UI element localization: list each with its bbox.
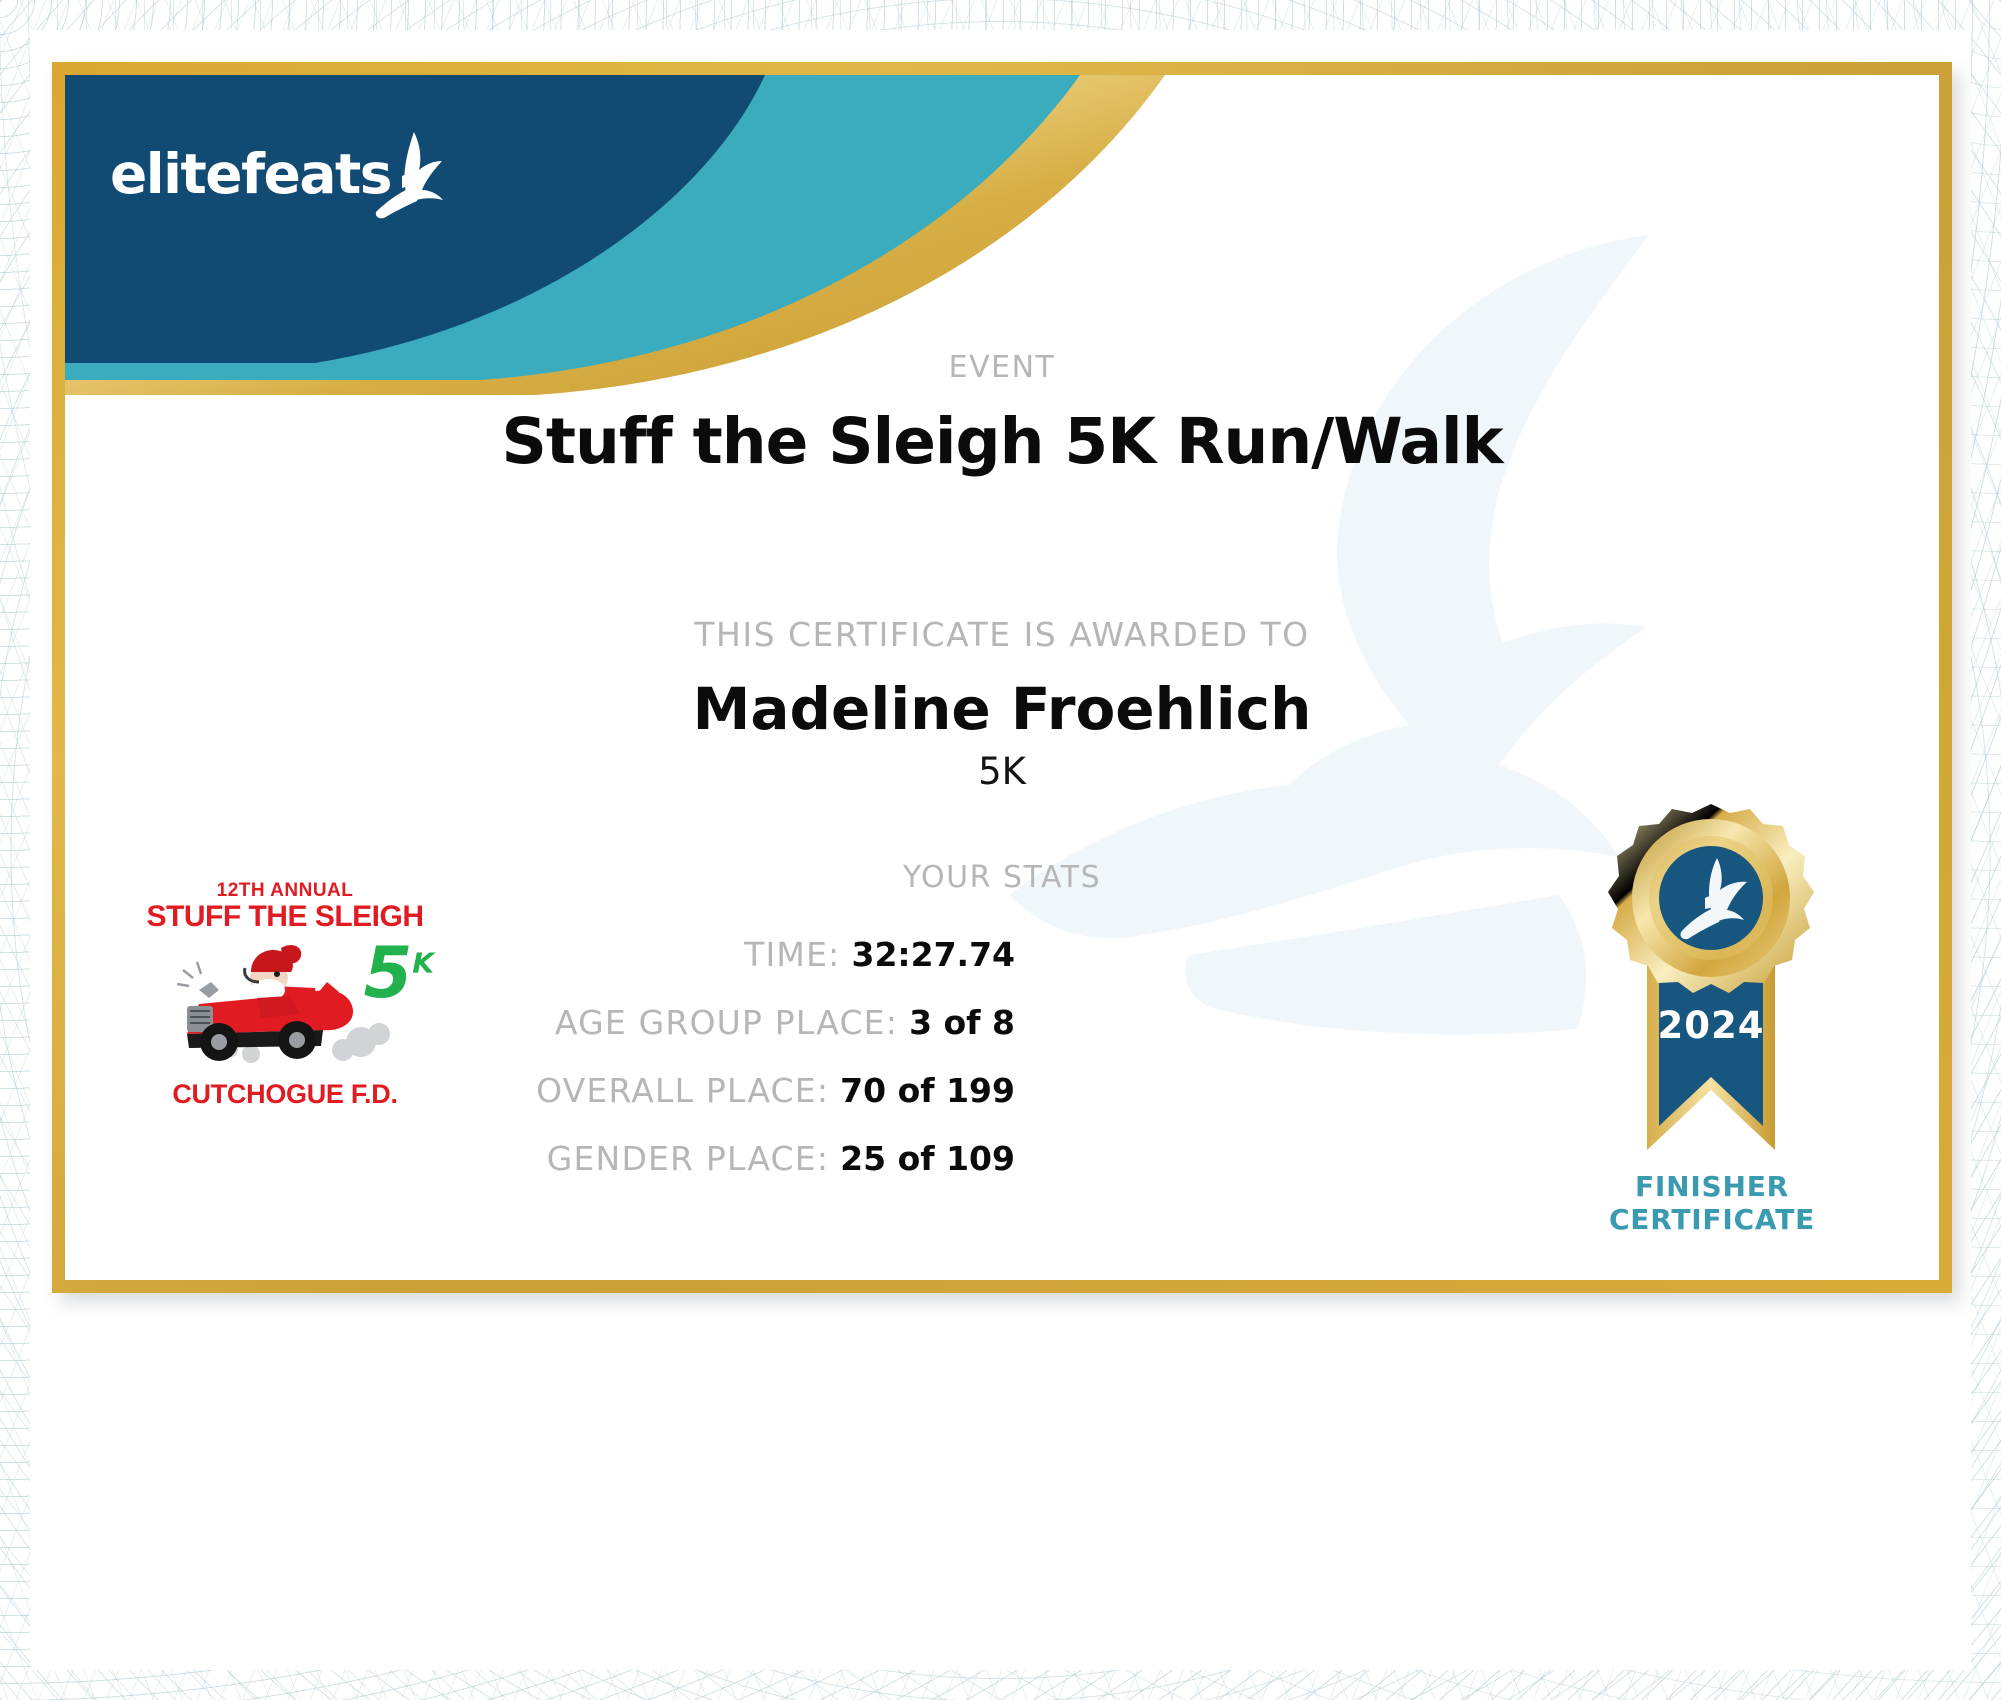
medal-year: 2024 (1658, 1004, 1765, 1047)
medal-caption-line2: CERTIFICATE (1557, 1203, 1867, 1236)
race-logo-distance-unit: K (412, 947, 434, 980)
table-row: OVERALL PLACE: 70 of 199 (395, 1071, 1015, 1139)
stat-value-time: 32:27.74 (851, 935, 1015, 974)
medal-caption: FINISHER CERTIFICATE (1557, 1170, 1867, 1236)
stat-label-gender-place: GENDER PLACE: (547, 1139, 829, 1178)
certificate-content: EVENT Stuff the Sleigh 5K Run/Walk THIS … (65, 75, 1939, 1280)
table-row: AGE GROUP PLACE: 3 of 8 (395, 1003, 1015, 1071)
certificate-page: elitefeats EVENT Stuff the Sleigh 5K Run… (0, 0, 2001, 1700)
certificate-frame: elitefeats EVENT Stuff the Sleigh 5K Run… (52, 62, 1952, 1293)
stats-table: TIME: 32:27.74 AGE GROUP PLACE: 3 of 8 O… (395, 935, 1015, 1207)
stat-value-gender-place: 25 of 109 (840, 1139, 1015, 1178)
awarded-to-label: THIS CERTIFICATE IS AWARDED TO (65, 615, 1939, 654)
medal-caption-line1: FINISHER (1557, 1170, 1867, 1203)
finisher-medal: 2024 (1589, 790, 1834, 1190)
event-name: Stuff the Sleigh 5K Run/Walk (65, 405, 1939, 478)
stat-value-age-group-place: 3 of 8 (909, 1003, 1015, 1042)
stat-label-age-group-place: AGE GROUP PLACE: (555, 1003, 898, 1042)
stat-value-overall-place: 70 of 199 (840, 1071, 1015, 1110)
stat-label-time: TIME: (744, 935, 840, 974)
table-row: GENDER PLACE: 25 of 109 (395, 1139, 1015, 1207)
recipient-name: Madeline Froehlich (65, 675, 1939, 743)
race-logo-title: STUFF THE SLEIGH (140, 900, 430, 934)
event-label: EVENT (65, 350, 1939, 385)
race-logo-annual-line: 12TH ANNUAL (140, 880, 430, 902)
race-distance: 5K (65, 750, 1939, 793)
stat-label-overall-place: OVERALL PLACE: (536, 1071, 829, 1110)
race-logo-distance-number: 5 (364, 932, 413, 1014)
medal-disc (1608, 804, 1814, 993)
race-logo: 12TH ANNUAL STUFF THE SLEIGH (140, 880, 430, 1110)
race-logo-distance: 5K (364, 932, 434, 1014)
race-logo-host: CUTCHOGUE F.D. (140, 1079, 430, 1110)
table-row: TIME: 32:27.74 (395, 935, 1015, 1003)
